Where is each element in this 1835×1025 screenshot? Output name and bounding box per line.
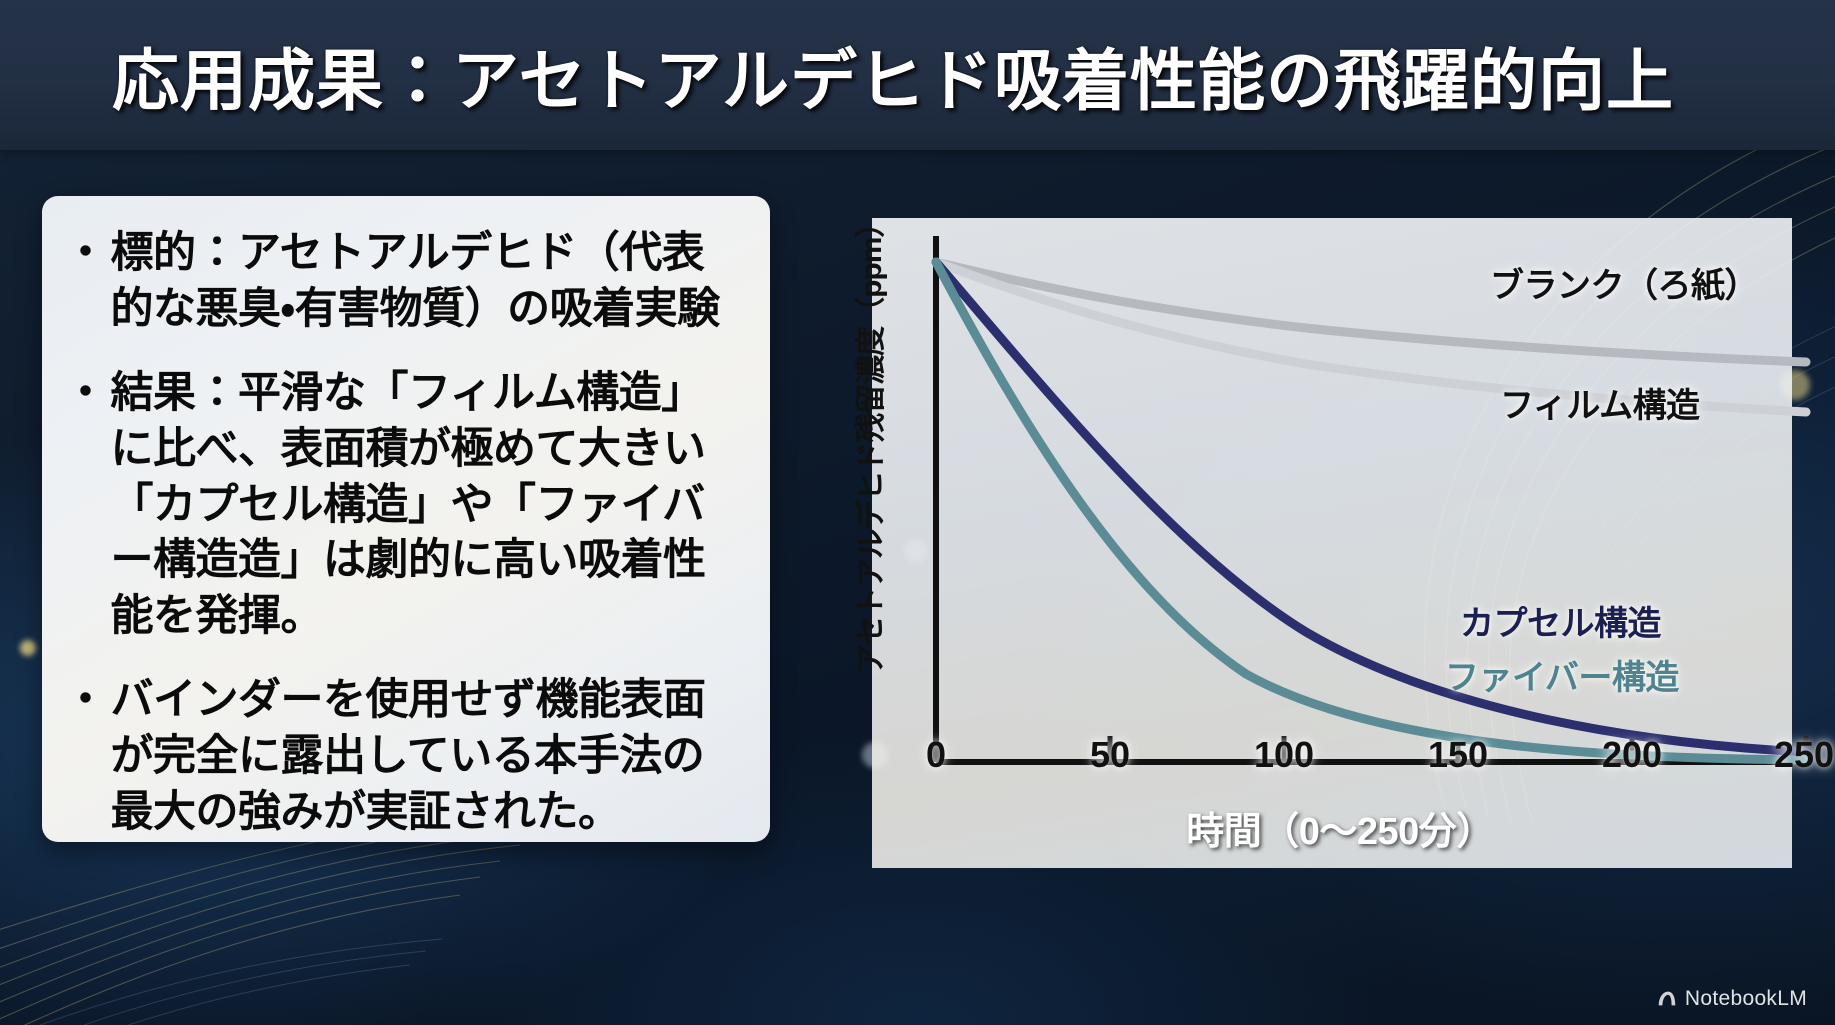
slide-root: 応用成果：アセトアルデヒド吸着性能の飛躍的向上 ・ 標的：アセトアルデヒド（代表… <box>0 0 1835 1025</box>
bullet-text: 標的：アセトアルデヒド（代表的な悪臭・有害物質）の吸着実験 <box>111 226 745 338</box>
chart-x-axis-label: 時間（0〜250分） <box>950 800 1730 855</box>
chart-x-tick-label: 150 <box>1403 734 1513 776</box>
bullet-item: ・ 結果：平滑な「フィルム構造」に比べ、表面積が極めて大きい「カプセル構造」や「… <box>64 366 744 645</box>
bullet-text: バインダーを使用せず機能表面が完全に露出している本手法の最大の強みが実証された。 <box>111 673 745 841</box>
bullet-text: 結果：平滑な「フィルム構造」に比べ、表面積が極めて大きい「カプセル構造」や「ファ… <box>111 366 745 645</box>
chart-x-tick-label: 100 <box>1229 734 1339 776</box>
page-title: 応用成果：アセトアルデヒド吸着性能の飛躍的向上 <box>112 27 1674 124</box>
chart-x-tick-label: 0 <box>881 734 991 776</box>
summary-panel: ・ 標的：アセトアルデヒド（代表的な悪臭・有害物質）の吸着実験 ・ 結果：平滑な… <box>42 196 770 842</box>
chart-x-tick-label: 200 <box>1577 734 1687 776</box>
legend-label-film: フィルム構造 <box>1500 378 1700 427</box>
adsorption-chart: アセトアルデヒド残留濃度（ppm） ブランク（ろ紙） フィルム構造 カプセル構造… <box>800 178 1820 898</box>
bullet-marker: ・ <box>64 366 107 645</box>
bullet-item: ・ バインダーを使用せず機能表面が完全に露出している本手法の最大の強みが実証され… <box>64 673 744 841</box>
bullet-marker: ・ <box>64 226 107 338</box>
decorative-glow-dot <box>20 640 36 656</box>
chart-x-tick-label: 250 <box>1749 734 1835 776</box>
legend-label-blank: ブランク（ろ紙） <box>1490 258 1758 307</box>
title-bar: 応用成果：アセトアルデヒド吸着性能の飛躍的向上 <box>0 0 1835 150</box>
legend-label-capsule: カプセル構造 <box>1460 596 1661 645</box>
watermark-label: NotebookLM <box>1685 987 1807 1011</box>
bullet-marker: ・ <box>64 673 107 841</box>
notebooklm-watermark: NotebookLM <box>1656 987 1807 1011</box>
bullet-item: ・ 標的：アセトアルデヒド（代表的な悪臭・有害物質）の吸着実験 <box>64 226 744 338</box>
legend-label-fiber: ファイバー構造 <box>1445 650 1679 699</box>
chart-x-tick-label: 50 <box>1055 734 1165 776</box>
notebooklm-logo-icon <box>1656 988 1678 1010</box>
